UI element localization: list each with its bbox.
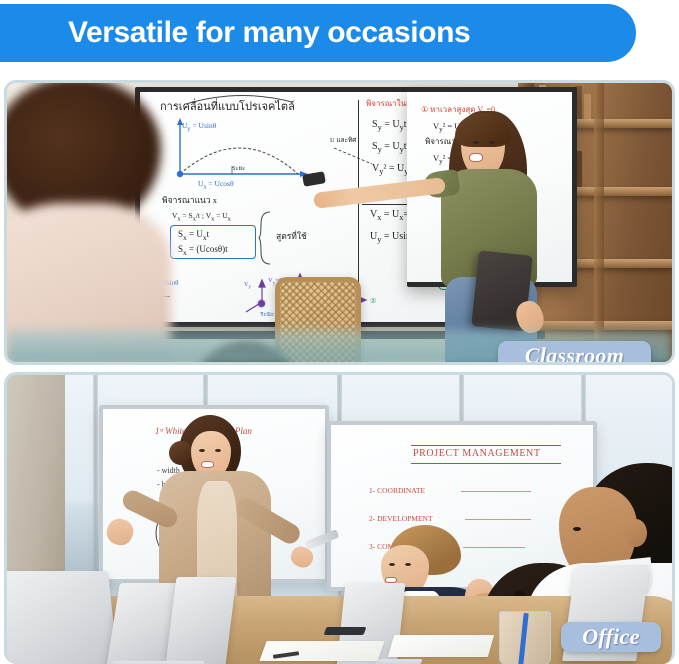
teacher-figure — [431, 101, 561, 362]
badge-office-label: Office — [582, 624, 640, 650]
badge-classroom: Classroom — [498, 341, 651, 365]
photo-card-classroom: การเคลื่อนที่แบบโปรเจคไตล์ Uy = Usinθ Ux… — [4, 80, 675, 365]
laptop — [166, 577, 237, 664]
badge-classroom-label: Classroom — [525, 343, 624, 365]
office-scene: 1ˢᵗ Whiteboard Usage Plan - width - high… — [7, 375, 672, 664]
photo-card-office: 1ˢᵗ Whiteboard Usage Plan - width - high… — [4, 372, 675, 664]
badge-office: Office — [561, 622, 661, 652]
header-banner: Versatile for many occasions — [0, 4, 636, 62]
foreground-student-left — [7, 83, 179, 362]
table-objects — [7, 375, 672, 664]
laptop — [7, 571, 118, 664]
smartphone — [324, 627, 367, 635]
classroom-scene: การเคลื่อนที่แบบโปรเจคไตล์ Uy = Usinθ Ux… — [7, 83, 672, 362]
page-title: Versatile for many occasions — [0, 16, 470, 50]
